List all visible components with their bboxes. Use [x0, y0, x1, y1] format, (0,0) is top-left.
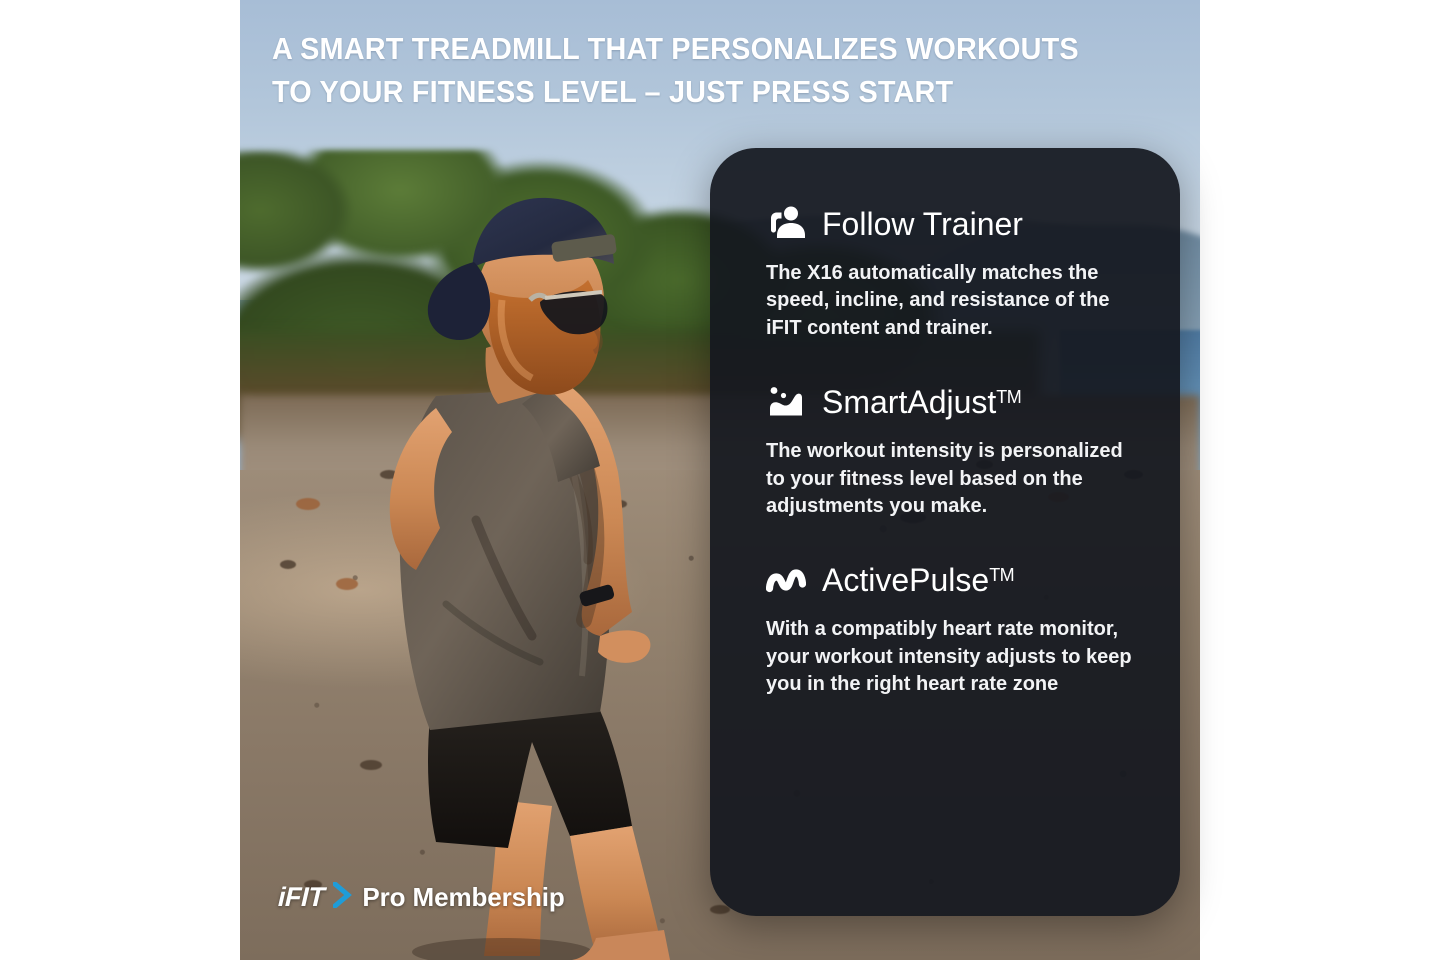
feature-card: Follow Trainer The X16 automatically mat…	[710, 148, 1180, 916]
pulse-wave-icon	[766, 560, 806, 600]
feature-header: SmartAdjustTM	[766, 382, 1134, 422]
feature-title-text: Follow Trainer	[822, 206, 1023, 242]
feature-description: With a compatibly heart rate monitor, yo…	[766, 616, 1134, 698]
ifit-logo-lockup: iFIT Pro Membership	[278, 882, 565, 913]
feature-follow-trainer: Follow Trainer The X16 automatically mat…	[766, 204, 1134, 342]
hill-sparkle-icon	[766, 382, 806, 422]
feature-description: The workout intensity is personalized to…	[766, 438, 1134, 520]
feature-title-text: SmartAdjust	[822, 384, 996, 420]
feature-active-pulse: ActivePulseTM With a compatibly heart ra…	[766, 560, 1134, 698]
feature-header: Follow Trainer	[766, 204, 1134, 244]
chevron-right-icon	[333, 882, 353, 913]
feature-title: SmartAdjustTM	[822, 386, 1021, 418]
feature-smart-adjust: SmartAdjustTM The workout intensity is p…	[766, 382, 1134, 520]
feature-title: ActivePulseTM	[822, 564, 1014, 596]
feature-title: Follow Trainer	[822, 208, 1023, 240]
feature-title-text: ActivePulse	[822, 562, 989, 598]
promo-canvas: A SMART TREADMILL THAT PERSONALIZES WORK…	[0, 0, 1440, 960]
headline: A SMART TREADMILL THAT PERSONALIZES WORK…	[272, 28, 1109, 114]
trademark-mark: TM	[989, 565, 1014, 585]
headline-line-1: A SMART TREADMILL THAT PERSONALIZES WORK…	[272, 28, 1109, 71]
feature-header: ActivePulseTM	[766, 560, 1134, 600]
feature-description: The X16 automatically matches the speed,…	[766, 260, 1134, 342]
trademark-mark: TM	[996, 387, 1021, 407]
ifit-tagline: Pro Membership	[362, 882, 564, 913]
ifit-wordmark: iFIT	[277, 882, 324, 913]
headline-line-2: TO YOUR FITNESS LEVEL – JUST PRESS START	[272, 71, 1109, 114]
person-raised-arm-icon	[766, 204, 806, 244]
feature-card-content: Follow Trainer The X16 automatically mat…	[766, 204, 1134, 699]
